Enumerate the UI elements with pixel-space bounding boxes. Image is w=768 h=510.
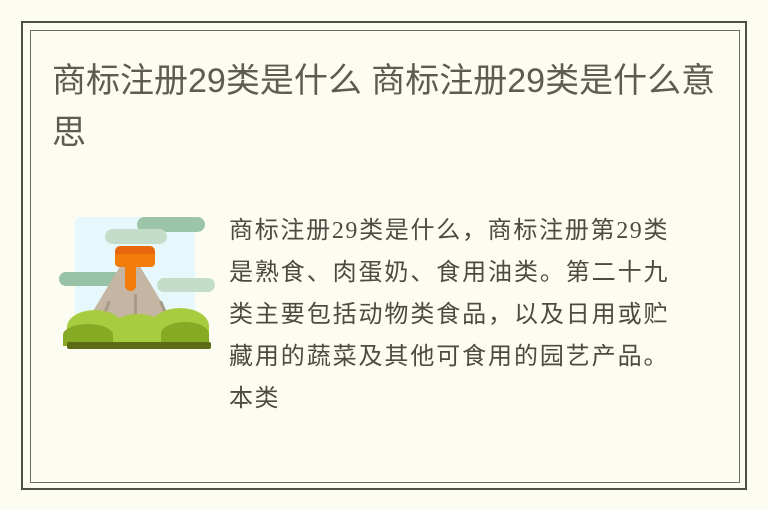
volcano-illustration bbox=[65, 212, 217, 360]
cloud-icon-top-left bbox=[105, 229, 167, 244]
bush-middle bbox=[111, 314, 165, 344]
article-body-text: 商标注册29类是什么，商标注册第29类是熟食、肉蛋奶、食用油类。第二十九类主要包… bbox=[229, 210, 669, 462]
article-content: 商标注册29类是什么，商标注册第29类是熟食、肉蛋奶、食用油类。第二十九类主要包… bbox=[52, 205, 722, 455]
page-title: 商标注册29类是什么 商标注册29类是什么意思 bbox=[52, 55, 722, 159]
ground-bar bbox=[67, 342, 211, 349]
article-card-page: 商标注册29类是什么 商标注册29类是什么意思 商标注册29类是什么，商标注册第… bbox=[0, 0, 768, 510]
lava-drip bbox=[125, 260, 136, 291]
